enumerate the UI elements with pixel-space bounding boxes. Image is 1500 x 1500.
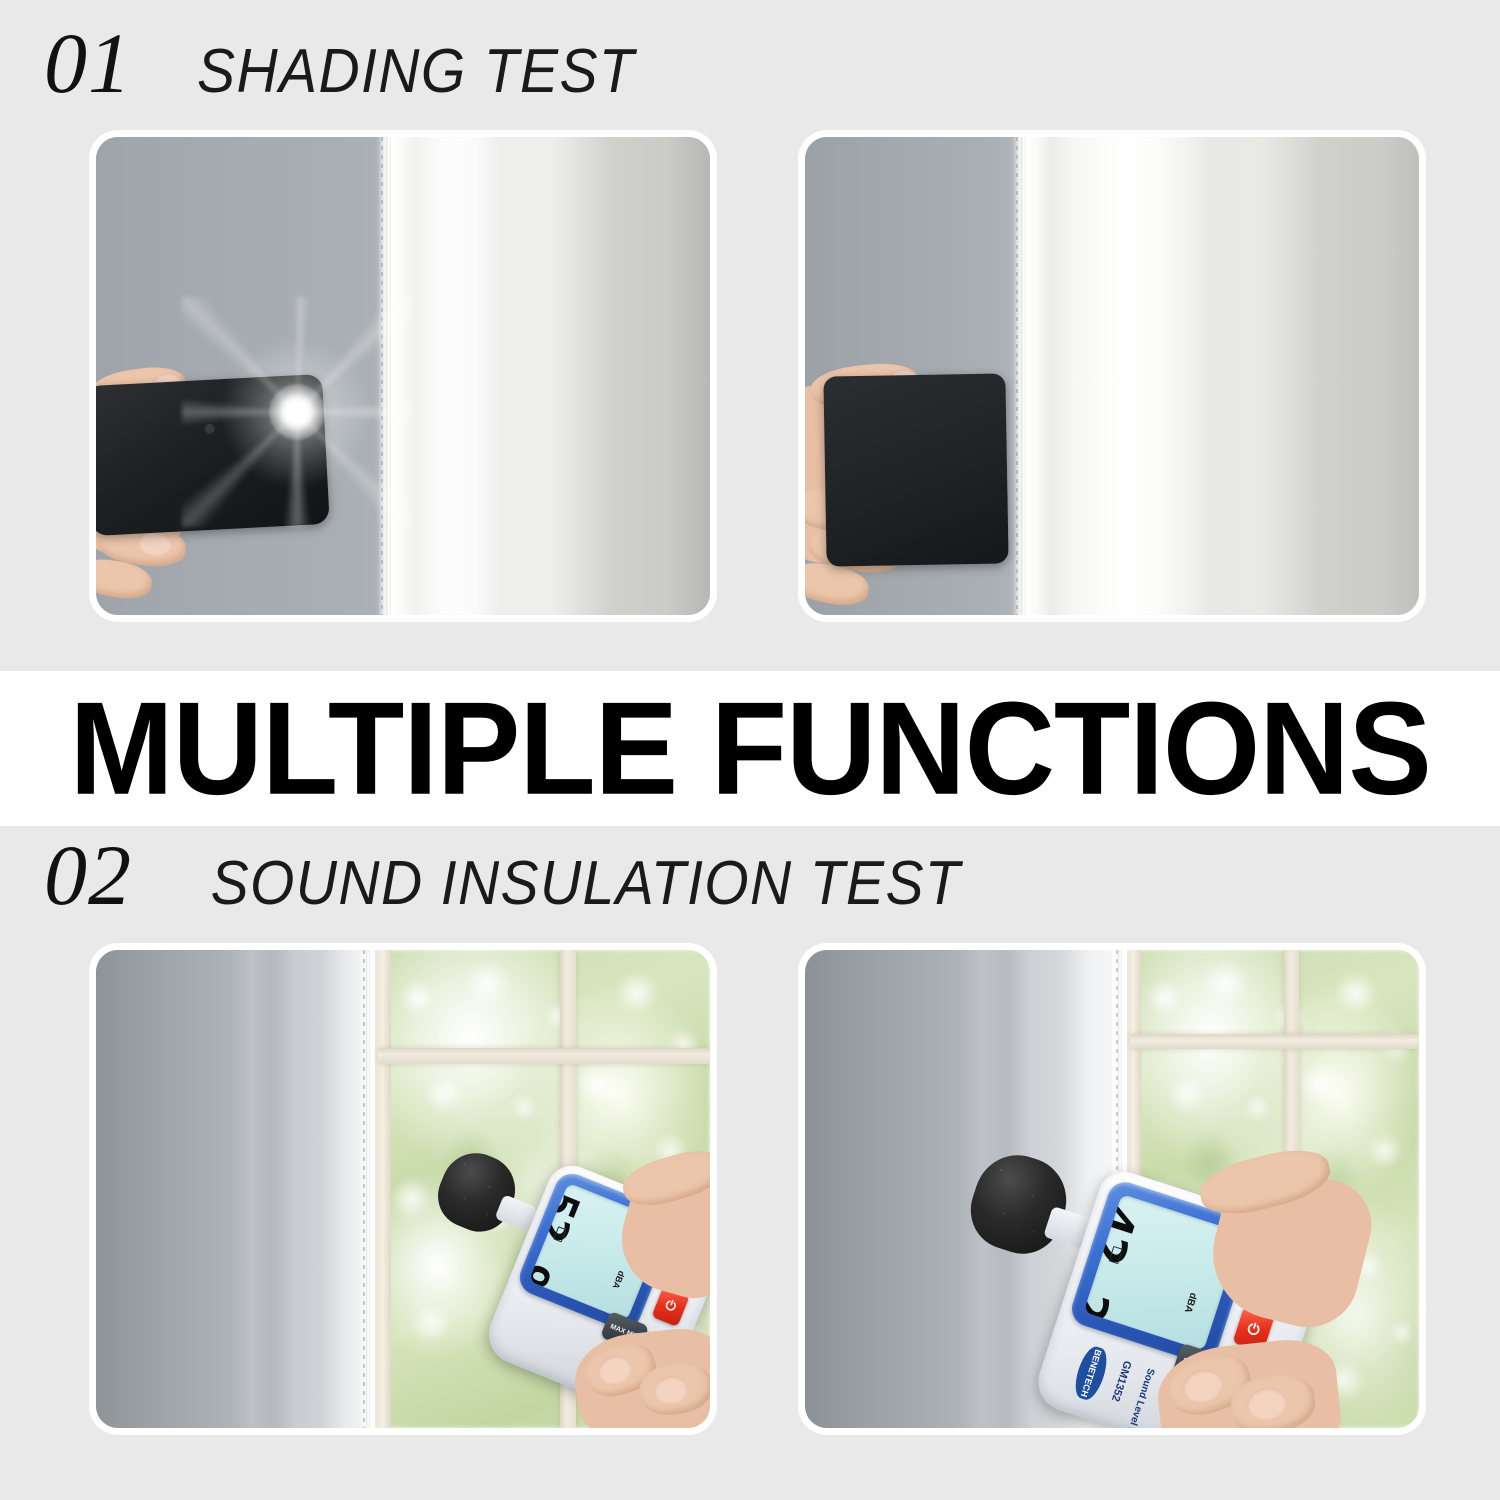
photo-sound-at-curtain: 42.2 dBA HOLD ⏻ MAX MIN BENETECH GM1352 …	[805, 950, 1419, 1428]
lcd-unit: dBA	[611, 1269, 627, 1290]
brand-badge: BENETECH	[1070, 1343, 1111, 1402]
banner-band: MULTIPLE FUNCTIONS	[0, 671, 1500, 826]
section-number-01: 01	[44, 20, 132, 106]
lcd-unit: dBA	[1182, 1291, 1199, 1314]
sound-level-meter: 52.9 dBA HOLD ⏻ MAX MIN	[426, 1150, 710, 1428]
photo-shading-light-on: hand holding phone with flashlight on, s…	[96, 137, 710, 615]
microphone-windscreen	[428, 1143, 525, 1241]
microphone-windscreen	[960, 1144, 1077, 1264]
photo-shading-light-blocked: same phone behind the curtain with light…	[805, 137, 1419, 615]
photo-card-shading-light-on: hand holding phone with flashlight on, s…	[96, 137, 710, 615]
section-heading-01: 01 SHADING TEST	[44, 20, 654, 106]
infographic-page: 01 SHADING TEST hand h	[0, 0, 1500, 1500]
curtain-seam	[1021, 137, 1026, 615]
window-mullion-horizontal	[378, 1048, 710, 1064]
section-number-02: 02	[44, 832, 132, 918]
photo-card-shading-light-blocked: same phone behind the curtain with light…	[805, 137, 1419, 615]
photo-card-sound-at-curtain: 42.2 dBA HOLD ⏻ MAX MIN BENETECH GM1352 …	[805, 950, 1419, 1428]
photo-card-sound-at-window: 52.9 dBA HOLD ⏻ MAX MIN	[96, 950, 710, 1428]
banner-headline: MULTIPLE FUNCTIONS	[69, 682, 1430, 814]
smartphone	[823, 373, 1008, 566]
curtain-stitch-line	[1016, 137, 1018, 615]
section-heading-02: 02 SOUND INSULATION TEST	[44, 832, 994, 918]
flashlight-beam	[269, 384, 325, 440]
sound-level-meter: 42.2 dBA HOLD ⏻ MAX MIN BENETECH GM1352 …	[963, 1148, 1383, 1428]
section-title-02: SOUND INSULATION TEST	[211, 853, 962, 915]
meter-model-label: GM1352	[1109, 1359, 1133, 1403]
curtain-seam	[366, 950, 370, 1428]
window-frame-left	[375, 950, 391, 1428]
section-title-01: SHADING TEST	[197, 41, 635, 103]
window-mullion-horizontal	[1130, 1034, 1419, 1049]
photo-sound-at-window: 52.9 dBA HOLD ⏻ MAX MIN	[96, 950, 710, 1428]
curtain-drape-sound	[96, 950, 366, 1428]
